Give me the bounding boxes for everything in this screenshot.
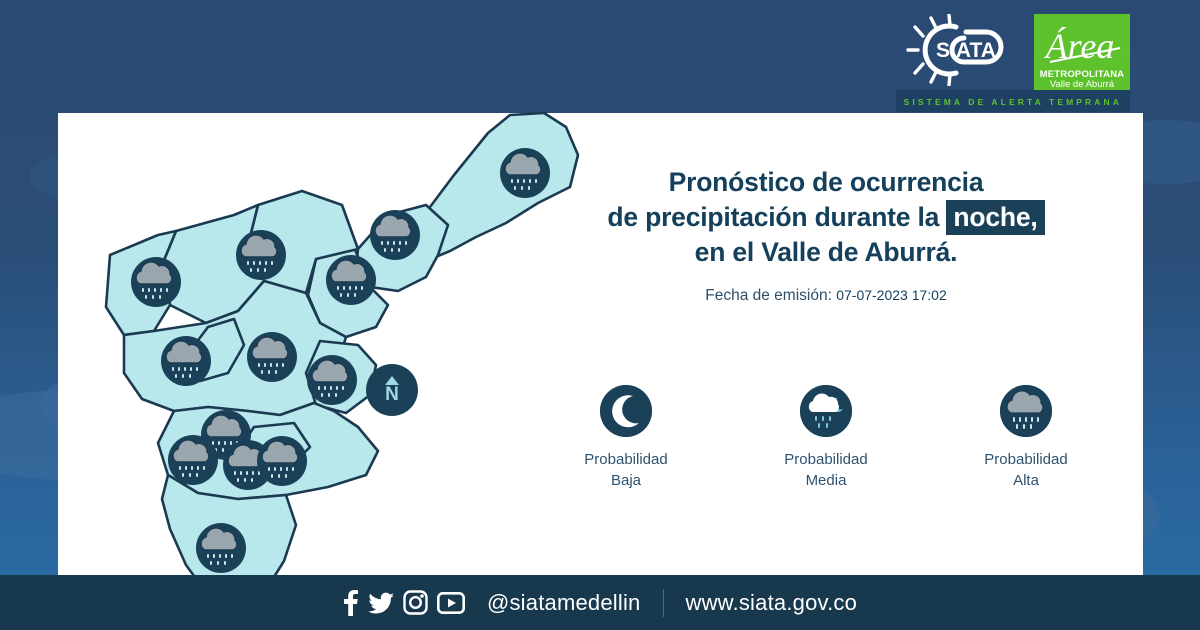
legend-label-line1: Probabilidad	[984, 450, 1067, 471]
forecast-text-block: Pronóstico de ocurrencia de precipitació…	[526, 165, 1126, 305]
map-marker-la-estrella[interactable]	[168, 435, 218, 485]
title-line-1: Pronóstico de ocurrencia	[526, 165, 1126, 200]
legend-label-line2: Baja	[584, 471, 667, 492]
area-script-icon: Área	[1034, 18, 1130, 70]
legend-item-alta: Probabilidad Alta	[926, 385, 1126, 491]
title-line-3: en el Valle de Aburrá.	[526, 235, 1126, 270]
content-panel: N Pronóstico de ocurrencia de precipitac…	[58, 113, 1143, 575]
probability-legend: Probabilidad Baja	[526, 385, 1126, 491]
youtube-icon[interactable]	[437, 592, 465, 614]
legend-label-media: Probabilidad Media	[784, 450, 867, 491]
map-marker-copacabana[interactable]	[326, 255, 376, 305]
tagline-bar: SISTEMA DE ALERTA TEMPRANA	[896, 90, 1130, 112]
emission-date: Fecha de emisión: 07-07-2023 17:02	[526, 287, 1126, 305]
title-highlight-noche: noche,	[946, 200, 1044, 235]
website-link[interactable]: www.siata.gov.co	[686, 590, 858, 616]
emission-date-value: 07-07-2023 17:02	[836, 287, 947, 303]
map-marker-medellin-nw[interactable]	[161, 336, 211, 386]
social-handle[interactable]: @siatamedellin	[487, 590, 641, 616]
siata-logo: SIATA	[904, 14, 1024, 86]
legend-item-baja: Probabilidad Baja	[526, 385, 726, 491]
twitter-icon[interactable]	[368, 590, 394, 616]
legend-label-baja: Probabilidad Baja	[584, 450, 667, 491]
moon-icon	[600, 385, 652, 437]
legend-item-media: Probabilidad Media	[726, 385, 926, 491]
map-marker-bello[interactable]	[236, 230, 286, 280]
legend-label-line1: Probabilidad	[784, 450, 867, 471]
map-marker-girardota[interactable]	[370, 210, 420, 260]
facebook-icon[interactable]	[343, 590, 359, 616]
footer-divider	[663, 589, 664, 617]
cloud-rain-moon-icon	[800, 385, 852, 437]
map-marker-san-pedro[interactable]	[131, 257, 181, 307]
instagram-icon[interactable]	[403, 590, 428, 615]
legend-label-alta: Probabilidad Alta	[984, 450, 1067, 491]
title-line-2: de precipitación durante la noche,	[526, 200, 1126, 235]
legend-label-line1: Probabilidad	[584, 450, 667, 471]
compass-label: N	[385, 386, 399, 404]
cloud-heavy-rain-icon	[1000, 385, 1052, 437]
legend-label-line2: Alta	[984, 471, 1067, 492]
valle-de-aburra-map	[58, 55, 618, 575]
emission-date-label: Fecha de emisión:	[705, 287, 832, 304]
map-marker-medellin[interactable]	[247, 332, 297, 382]
tagline-text: SISTEMA DE ALERTA TEMPRANA	[904, 97, 1122, 107]
map-marker-envigado[interactable]	[307, 355, 357, 405]
social-icon-group	[343, 590, 465, 616]
footer-bar: @siatamedellin www.siata.gov.co	[0, 575, 1200, 630]
siata-logo-text: SIATA	[936, 39, 996, 62]
title-line-2-text: de precipitación durante la	[607, 202, 939, 232]
logo-group: SIATA Área METROPOLITANA Valle de Aburrá	[904, 14, 1130, 96]
svg-text:Área: Área	[1044, 26, 1115, 66]
page-title: Pronóstico de ocurrencia de precipitació…	[526, 165, 1126, 271]
area-metropolitana-logo: Área METROPOLITANA Valle de Aburrá	[1034, 14, 1130, 96]
compass-north-icon: N	[366, 364, 418, 416]
map-marker-caldas-sur[interactable]	[196, 523, 246, 573]
legend-label-line2: Media	[784, 471, 867, 492]
map-marker-caldas[interactable]	[257, 436, 307, 486]
